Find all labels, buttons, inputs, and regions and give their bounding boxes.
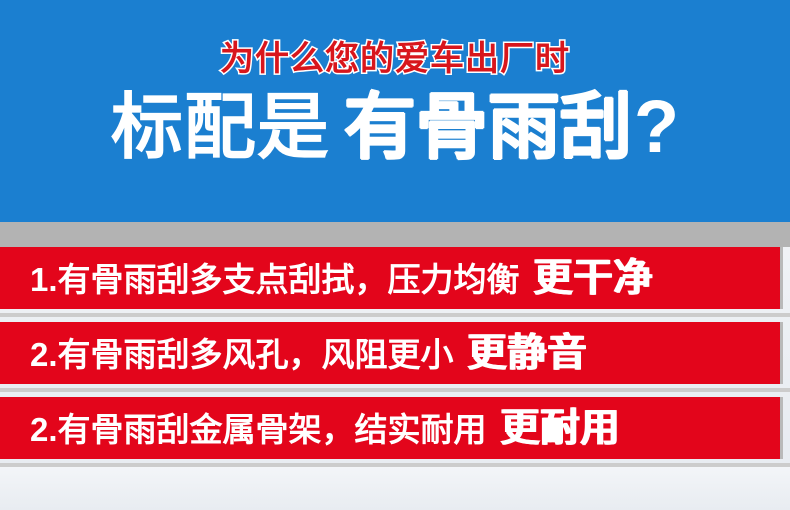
- feature-bar-2-content: 2.有骨雨刮多风孔，风阻更小 更静音: [0, 334, 588, 373]
- feature-bar-1-text: 1.有骨雨刮多支点刮拭，压力均衡: [30, 263, 520, 296]
- hero-header: 为什么您的爱车出厂时 标配是 有骨雨刮 ?: [0, 0, 790, 222]
- footer-gradient-area: [0, 467, 790, 510]
- hero-title-part1: 标配是: [111, 92, 330, 164]
- feature-bar-3: 2.有骨雨刮金属骨架，结实耐用 更耐用: [0, 397, 783, 459]
- feature-bar-1-emphasis: 更干净: [534, 259, 654, 298]
- feature-bar-2-emphasis: 更静音: [468, 334, 588, 373]
- feature-bar-2-text: 2.有骨雨刮多风孔，风阻更小: [30, 338, 454, 371]
- gray-divider-band: [0, 222, 790, 247]
- bar-separator-2: [0, 388, 790, 392]
- feature-bar-3-content: 2.有骨雨刮金属骨架，结实耐用 更耐用: [0, 409, 621, 448]
- hero-title-highlight: 有骨雨刮: [344, 91, 632, 163]
- hero-title: 标配是 有骨雨刮 ?: [111, 90, 679, 164]
- feature-bar-3-emphasis: 更耐用: [501, 409, 621, 448]
- feature-bar-2: 2.有骨雨刮多风孔，风阻更小 更静音: [0, 322, 783, 384]
- feature-bar-1: 1.有骨雨刮多支点刮拭，压力均衡 更干净: [0, 247, 783, 309]
- promo-poster: 为什么您的爱车出厂时 标配是 有骨雨刮 ? 1.有骨雨刮多支点刮拭，压力均衡 更…: [0, 0, 790, 510]
- hero-subtitle: 为什么您的爱车出厂时: [220, 42, 570, 76]
- feature-bar-3-text: 2.有骨雨刮金属骨架，结实耐用: [30, 413, 487, 446]
- hero-title-question-mark: ?: [634, 90, 679, 164]
- feature-bar-1-content: 1.有骨雨刮多支点刮拭，压力均衡 更干净: [0, 259, 654, 298]
- bar-separator-1: [0, 313, 790, 317]
